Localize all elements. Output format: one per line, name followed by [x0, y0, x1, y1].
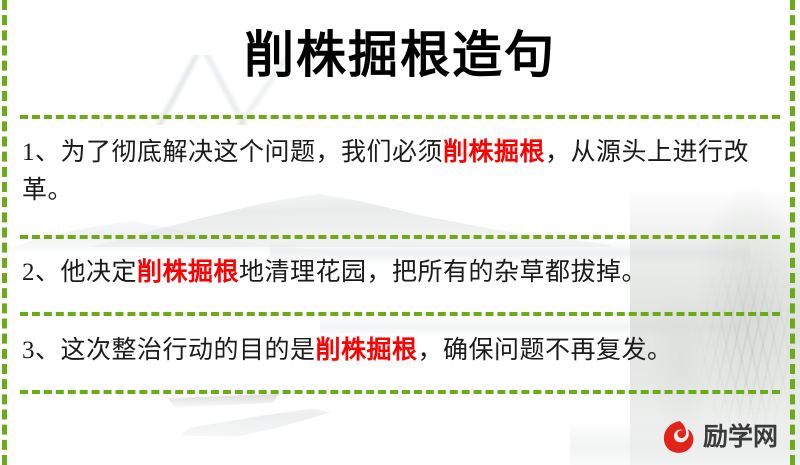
example-sentence-1: 1、为了彻底解决这个问题，我们必须削株掘根，从源头上进行改革。 — [22, 134, 774, 210]
flame-swirl-logo-icon — [661, 419, 697, 455]
divider-after-sentence-1 — [20, 235, 780, 239]
sentence-3-text-before: 这次整治行动的目的是 — [61, 337, 316, 364]
site-logo-text: 励学网 — [703, 422, 778, 452]
poster-page: 削株掘根造句 1、为了彻底解决这个问题，我们必须削株掘根，从源头上进行改革。 2… — [0, 0, 800, 465]
example-sentence-2: 2、他决定削株掘根地清理花园，把所有的杂草都拔掉。 — [22, 254, 774, 292]
boat-sail-watermark — [150, 398, 370, 446]
example-sentence-3: 3、这次整治行动的目的是削株掘根，确保问题不再复发。 — [22, 332, 774, 370]
sentence-2-text-after: 地清理花园，把所有的杂草都拔掉。 — [239, 259, 647, 286]
sentence-1-text-before: 为了彻底解决这个问题，我们必须 — [61, 139, 444, 166]
sentence-2-text-before: 他决定 — [61, 259, 138, 286]
sentence-2-index: 2、 — [22, 259, 61, 286]
divider-after-sentence-2 — [20, 312, 780, 316]
sentence-2-idiom-highlight: 削株掘根 — [137, 259, 239, 286]
boat-hull-watermark — [168, 394, 278, 408]
sentence-1-index: 1、 — [22, 139, 61, 166]
sentence-3-text-after: ，确保问题不再复发。 — [418, 337, 673, 364]
divider-after-sentence-3 — [20, 390, 780, 394]
sentence-3-idiom-highlight: 削株掘根 — [316, 337, 418, 364]
page-title: 削株掘根造句 — [0, 24, 800, 86]
mountain-watermark-two — [0, 212, 330, 252]
divider-below-title — [20, 115, 780, 119]
sentence-1-idiom-highlight: 削株掘根 — [443, 139, 545, 166]
sentence-3-index: 3、 — [22, 337, 61, 364]
site-logo[interactable]: 励学网 — [661, 419, 778, 455]
